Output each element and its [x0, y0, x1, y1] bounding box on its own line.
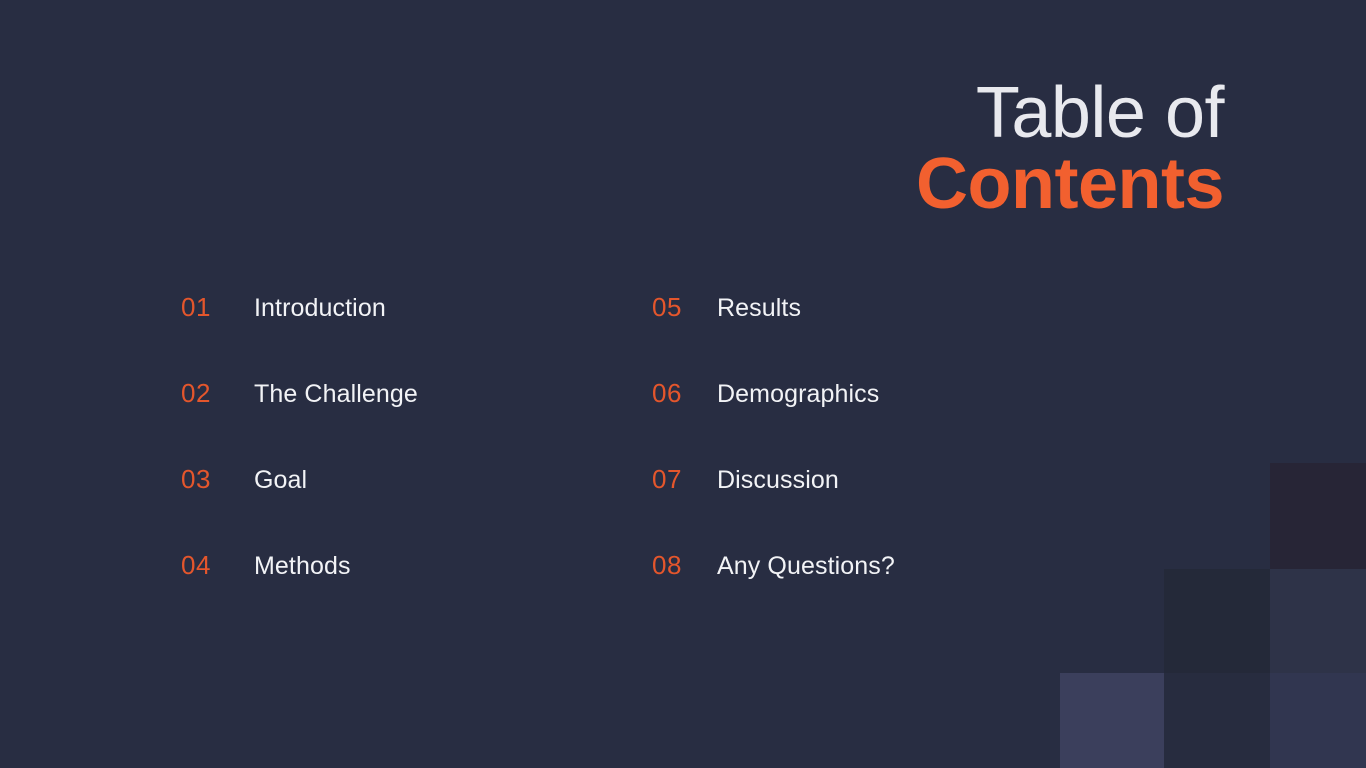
toc-item-number: 08: [652, 550, 717, 581]
toc-item-number: 07: [652, 464, 717, 495]
table-of-contents: 01 Introduction 02 The Challenge 03 Goal…: [181, 292, 1181, 636]
toc-item-label: Methods: [254, 552, 351, 581]
toc-item-number: 03: [181, 464, 254, 495]
toc-item-the-challenge[interactable]: 02 The Challenge: [181, 378, 652, 464]
toc-item-label: Demographics: [717, 380, 879, 409]
toc-item-results[interactable]: 05 Results: [652, 292, 1123, 378]
slide-title-line-1: Table of: [916, 78, 1224, 149]
toc-item-label: Results: [717, 294, 801, 323]
toc-column-right: 05 Results 06 Demographics 07 Discussion…: [652, 292, 1123, 636]
toc-item-introduction[interactable]: 01 Introduction: [181, 292, 652, 378]
toc-item-goal[interactable]: 03 Goal: [181, 464, 652, 550]
toc-item-number: 05: [652, 292, 717, 323]
decorative-square-row2-col1: [1164, 673, 1270, 768]
toc-item-any-questions[interactable]: 08 Any Questions?: [652, 550, 1123, 636]
slide-canvas: Table of Contents 01 Introduction 02 The…: [0, 0, 1366, 768]
toc-column-left: 01 Introduction 02 The Challenge 03 Goal…: [181, 292, 652, 636]
toc-item-number: 06: [652, 378, 717, 409]
decorative-square-row0-col2: [1270, 463, 1366, 569]
toc-item-number: 02: [181, 378, 254, 409]
toc-item-label: Goal: [254, 466, 307, 495]
slide-title-line-2: Contents: [916, 149, 1224, 220]
toc-item-label: The Challenge: [254, 380, 418, 409]
toc-item-number: 01: [181, 292, 254, 323]
toc-item-methods[interactable]: 04 Methods: [181, 550, 652, 636]
decorative-square-row2-col0: [1060, 673, 1166, 768]
toc-item-demographics[interactable]: 06 Demographics: [652, 378, 1123, 464]
toc-item-number: 04: [181, 550, 254, 581]
toc-item-discussion[interactable]: 07 Discussion: [652, 464, 1123, 550]
decorative-square-row1-col2: [1270, 569, 1366, 675]
slide-title: Table of Contents: [916, 78, 1224, 219]
toc-item-label: Discussion: [717, 466, 839, 495]
decorative-square-row2-col2: [1270, 673, 1366, 768]
toc-item-label: Introduction: [254, 294, 386, 323]
toc-item-label: Any Questions?: [717, 552, 895, 581]
